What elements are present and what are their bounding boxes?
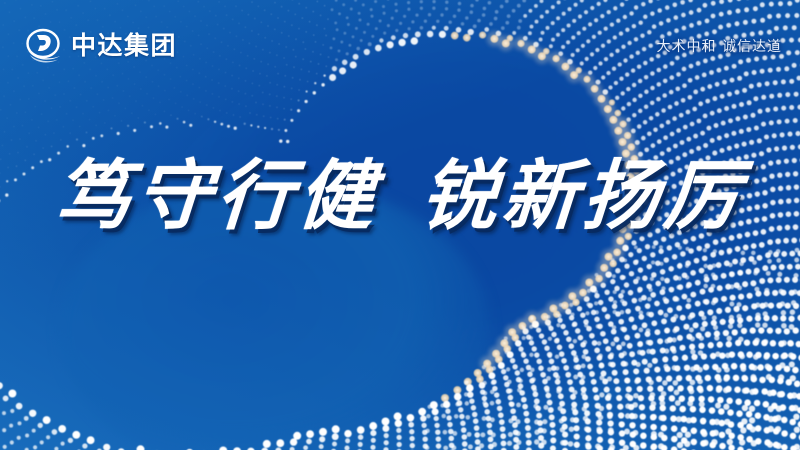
headline-phrase-1: 笃守行健 <box>52 158 381 234</box>
headline-phrase-2: 锐新扬厉 <box>419 158 748 234</box>
headline-slogan: 笃守行健 锐新扬厉 <box>0 158 800 234</box>
brand-logo[interactable]: 中达集团 <box>24 26 177 64</box>
company-name: 中达集团 <box>71 33 177 58</box>
poster-canvas: 中达集团 大术中和 诚信达道 笃守行健 锐新扬厉 <box>0 0 800 450</box>
corporate-tagline: 大术中和 诚信达道 <box>657 36 782 56</box>
zhongda-emblem-icon <box>24 26 62 64</box>
